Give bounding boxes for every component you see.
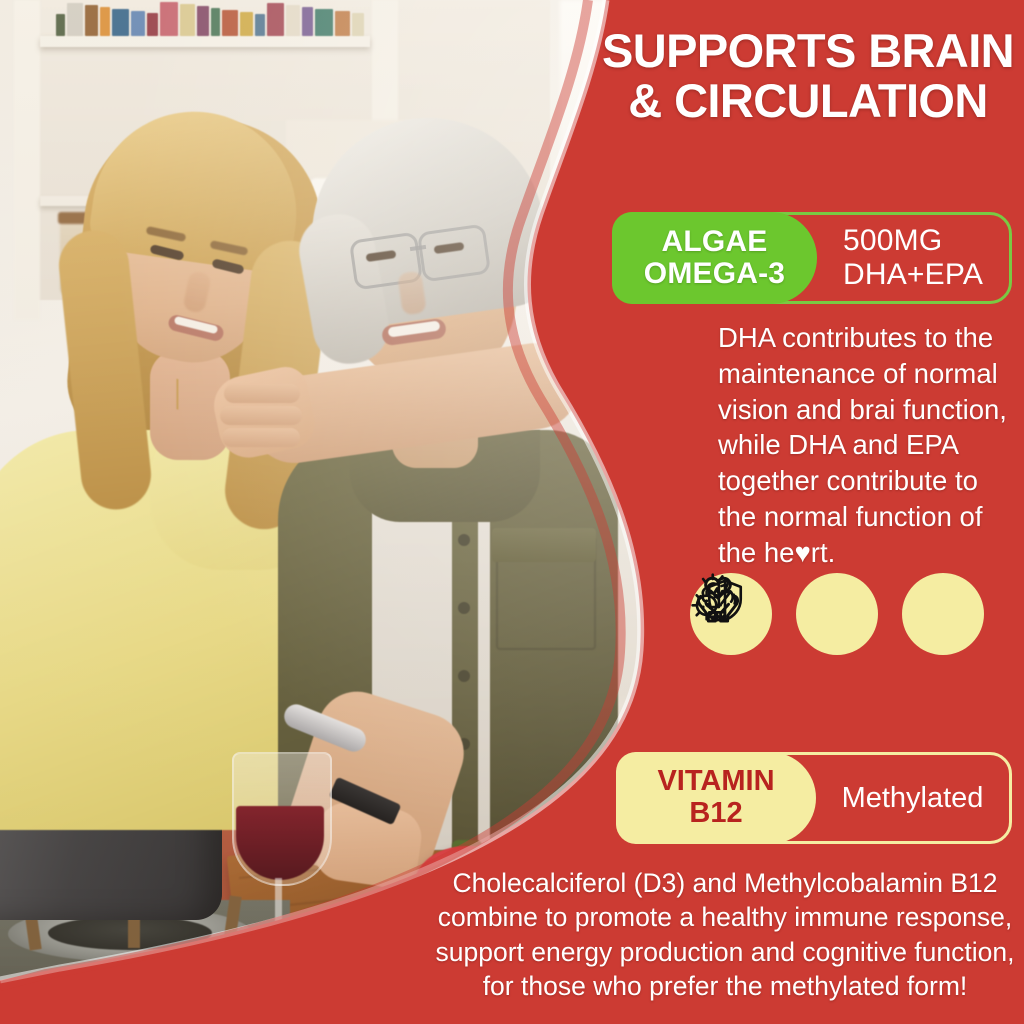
algae-label-line-1: ALGAE xyxy=(644,226,785,258)
algae-value-line-1: 500MG xyxy=(843,224,983,258)
promo-banner: SUPPORTS BRAIN & CIRCULATION ALGAE OMEGA… xyxy=(0,0,1024,1024)
dha-description: DHA contributes to the maintenance of no… xyxy=(718,320,1018,570)
algae-value-line-2: DHA+EPA xyxy=(843,258,983,292)
vitamin-b12-badge: VITAMIN B12 Methylated xyxy=(616,752,1012,844)
shield-virus-icon xyxy=(902,573,984,655)
b12-description: Cholecalciferol (D3) and Methylcobalamin… xyxy=(430,866,1020,1004)
algae-omega3-badge: ALGAE OMEGA-3 500MG DHA+EPA xyxy=(612,212,1012,304)
b12-label-line-1: VITAMIN xyxy=(657,766,774,798)
algae-label-line-2: OMEGA-3 xyxy=(644,258,785,290)
algae-omega3-value: 500MG DHA+EPA xyxy=(817,215,1009,301)
b12-label-line-2: B12 xyxy=(657,798,774,830)
red-info-panel: SUPPORTS BRAIN & CIRCULATION ALGAE OMEGA… xyxy=(0,0,1024,1024)
page-title: SUPPORTS BRAIN & CIRCULATION xyxy=(596,26,1020,127)
brain-energy-icon xyxy=(796,573,878,655)
vitamin-b12-value: Methylated xyxy=(816,755,1009,841)
headline-line-1: SUPPORTS BRAIN xyxy=(596,26,1020,76)
algae-omega3-label: ALGAE OMEGA-3 xyxy=(612,212,817,304)
benefit-icon-row xyxy=(690,572,1020,656)
headline-line-2: & CIRCULATION xyxy=(596,76,1020,126)
vitamin-b12-label: VITAMIN B12 xyxy=(616,752,816,844)
